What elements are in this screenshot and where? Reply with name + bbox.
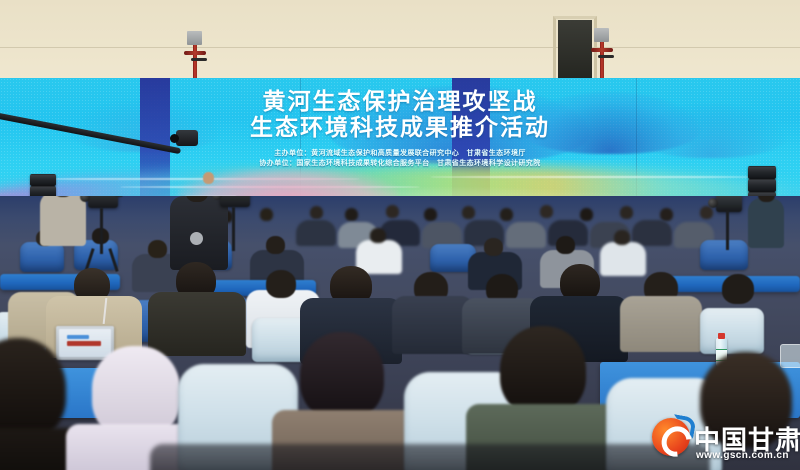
- audience-body: [620, 296, 702, 352]
- audience-head: [620, 206, 633, 219]
- speaker-box: [748, 179, 776, 192]
- audience-head: [266, 236, 285, 254]
- audience-head: [266, 270, 296, 298]
- audience-head: [556, 236, 575, 254]
- site-watermark: 中国甘肃网 www.gscn.com.cn: [652, 414, 798, 466]
- tripod-column: [726, 210, 729, 250]
- audience-head: [148, 240, 167, 258]
- stanchion-arm: [191, 58, 207, 61]
- audience-head: [462, 206, 475, 219]
- chair-blue: [20, 242, 64, 272]
- audience-head: [700, 206, 713, 219]
- stanchion-head: [187, 31, 202, 45]
- audience-head: [660, 208, 673, 221]
- foreground-head-center: [300, 332, 384, 420]
- jib-camera-head: [176, 130, 198, 146]
- audience-body: [506, 222, 546, 248]
- audience-head: [500, 208, 513, 221]
- laptop-screen: [59, 329, 111, 357]
- laptop: [56, 326, 114, 360]
- watermark-url: www.gscn.com.cn: [696, 450, 789, 461]
- speaker-box: [748, 166, 776, 179]
- camera-lens-icon: [80, 196, 90, 202]
- conference-photo: 黄河生态保护治理攻坚战 生态环境科技成果推介活动 主办单位：黄河流域生态保护和高…: [0, 0, 800, 470]
- stanchion-arm: [598, 55, 614, 58]
- audience-head: [722, 274, 754, 304]
- screen-arc-line: [430, 176, 760, 178]
- broadcast-camera-center: [220, 196, 250, 207]
- organizer-line-1: 主办单位：黄河流域生态保护和高质量发展联合研究中心 甘肃省生态环境厅: [0, 148, 800, 158]
- drinking-glass: [780, 344, 800, 368]
- organizer-line-2: 协办单位：国家生态环境科技成果转化综合服务平台 甘肃省生态环境科学设计研究院: [0, 158, 800, 168]
- audience-head: [580, 208, 593, 221]
- chair-blue: [700, 240, 748, 270]
- stanchion-arm: [184, 51, 206, 55]
- camera-lens-icon: [708, 198, 718, 208]
- audience-head: [540, 205, 553, 218]
- event-title-line1: 黄河生态保护治理攻坚战: [0, 88, 800, 114]
- stanchion-arm: [591, 48, 613, 52]
- audience-body: [148, 292, 246, 356]
- audience-head: [345, 208, 358, 221]
- audience-head: [424, 208, 437, 221]
- tripod-column: [232, 207, 235, 251]
- foreground-shadow-band: [150, 444, 710, 470]
- audience-head: [614, 230, 630, 245]
- operator-shirt-graphic: [190, 232, 203, 245]
- audience-head: [386, 205, 399, 218]
- wall-seam: [0, 47, 800, 48]
- chair-white: [700, 308, 764, 354]
- audience-head: [370, 228, 386, 243]
- gansu-logo-hook-icon: [670, 414, 696, 439]
- audience-body: [600, 242, 646, 276]
- audience-body: [296, 220, 336, 246]
- camera-operator-right-body: [748, 198, 784, 248]
- stanchion-head: [594, 28, 609, 42]
- broadcast-camera-right: [716, 196, 742, 212]
- jib-lens-icon: [170, 134, 179, 143]
- broadcast-camera-left: [88, 196, 118, 208]
- laptop-screen-header: [67, 335, 89, 339]
- audience-head: [260, 208, 273, 221]
- red-ceiling-stanchion-right: [600, 41, 604, 83]
- audience-head: [484, 238, 503, 256]
- camera-operator-left-body: [40, 196, 86, 246]
- audience-head: [310, 206, 323, 219]
- tripod-column: [100, 208, 103, 254]
- speaker-box: [30, 174, 56, 186]
- laptop-screen-banner: [67, 341, 101, 346]
- foreground-head-right: [500, 326, 586, 416]
- camera-hood: [115, 196, 123, 197]
- bottle-cap: [718, 333, 725, 339]
